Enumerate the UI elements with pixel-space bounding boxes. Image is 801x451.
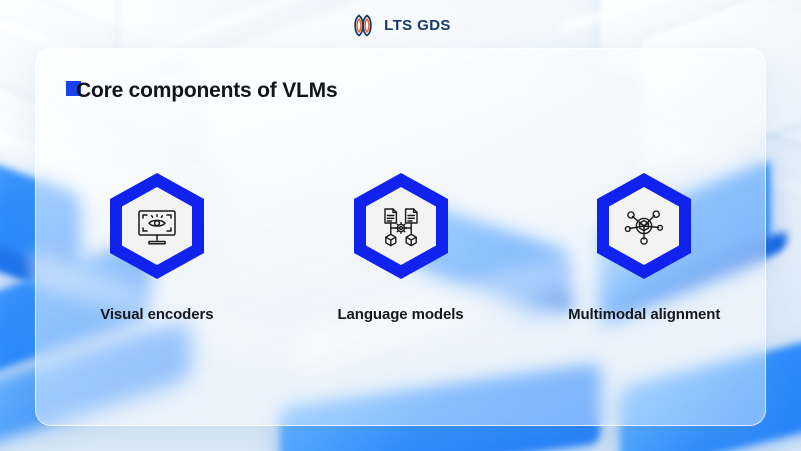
documents-gear-cubes-icon [349,170,453,282]
hexagon-badge [105,170,209,282]
cube-network-nodes-icon [592,170,696,282]
component-item-multimodal-alignment[interactable]: Multimodal alignment [522,170,766,323]
component-item-visual-encoders[interactable]: Visual encoders [35,170,279,323]
hexagon-badge [349,170,453,282]
component-item-language-models[interactable]: Language models [279,170,523,323]
component-label: Visual encoders [100,306,213,323]
slide-title-row: Core components of VLMs [66,80,337,102]
monitor-eye-icon [105,170,209,282]
component-label: Language models [337,306,463,323]
page-title: Core components of VLMs [76,80,337,102]
brand-logo: LTS GDS [0,11,801,39]
components-row: Visual encoders [35,170,766,323]
component-label: Multimodal alignment [568,306,720,323]
brand-name: LTS GDS [384,18,451,33]
slide-canvas: LTS GDS Core components of VLMs [0,0,801,451]
hexagon-badge [592,170,696,282]
lts-gds-logo-mark-icon [350,13,376,38]
